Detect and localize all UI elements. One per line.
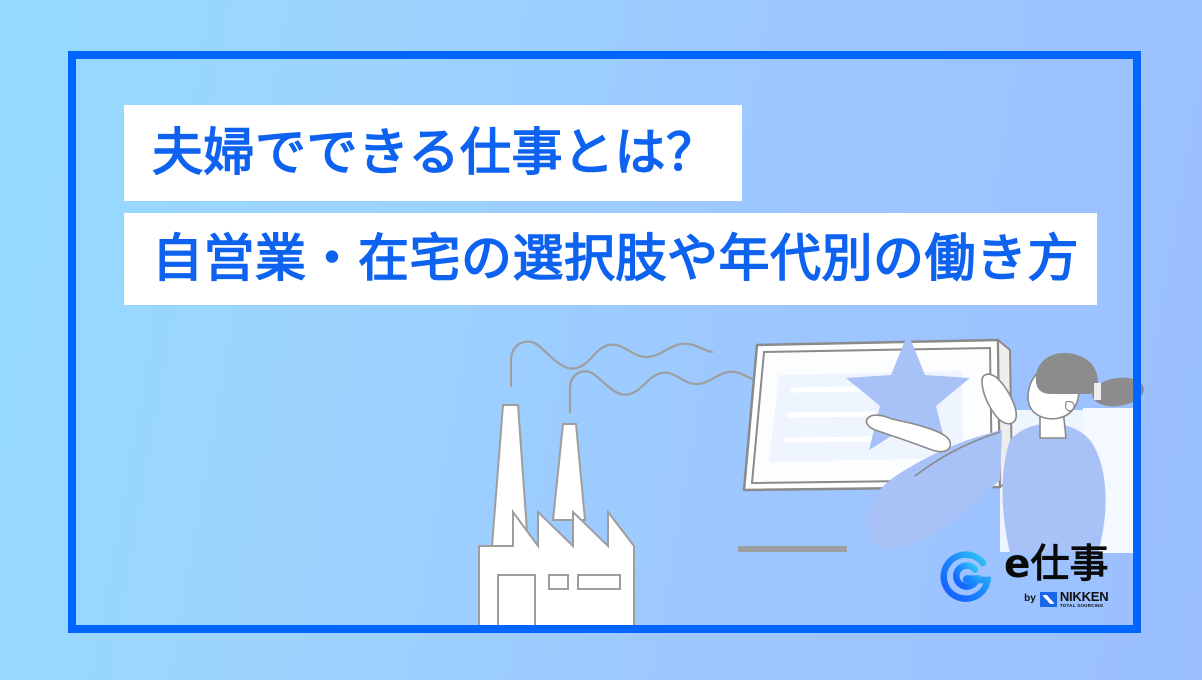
page-title-line1: 夫婦でできる仕事とは？ [152,128,717,179]
nikken-mark-icon [1040,592,1057,607]
smoke-line-1 [511,342,712,386]
factory-chimney-right [553,424,585,520]
star-icon [846,333,970,450]
person-neck [1040,400,1066,438]
tablet-side-edge [998,340,1012,487]
person-ponytail [1090,375,1145,410]
tablet-text-line-3 [785,439,887,440]
nikken-text: NIKKEN TOTAL SOURCING [1060,590,1109,609]
logo-text-group: e仕事 by NIKKEN TOTAL SOURCING [1004,545,1108,609]
back-panel-2 [1083,408,1141,553]
brand-logo[interactable]: e仕事 by NIKKEN TOTAL SOURCING [938,545,1126,617]
factory-illustration [479,405,634,630]
person-face [1028,366,1079,419]
factory-body [479,512,634,630]
title-band-line2: 自営業・在宅の選択肢や年代別の働き方 [124,213,1097,305]
parent-brand-group: by NIKKEN TOTAL SOURCING [1024,590,1108,609]
tablet-outer-frame [744,340,1000,490]
by-label: by [1024,594,1036,604]
person-arm [866,430,1002,549]
article-thumbnail-banner: 夫婦でできる仕事とは？ 自営業・在宅の選択肢や年代別の働き方 e仕事 by [0,0,1202,680]
smoke-lines [511,342,756,412]
person-hair [1036,353,1098,394]
tablet-illustration [744,340,1012,490]
person-arm-shade [915,432,1000,476]
e-spiral-inner [956,566,977,587]
person-hand-upper [982,374,1016,424]
tablet-text-line-1 [793,389,862,390]
tablet-screen-content [769,371,963,462]
tablet-text-line-2 [789,414,874,415]
factory-window-wide [578,575,620,589]
page-title-line2: 自営業・在宅の選択肢や年代別の働き方 [152,234,1079,285]
parent-brand-tagline: TOTAL SOURCING [1060,604,1109,609]
person-hair-tie [1094,383,1101,400]
person-illustration [866,353,1146,553]
parent-brand-name: NIKKEN [1060,590,1109,603]
back-panel [1000,410,1140,552]
smoke-line-2 [570,371,756,412]
person-hand-lower [866,415,950,451]
title-band-line1: 夫婦でできる仕事とは？ [124,105,742,201]
factory-window-small [549,575,568,589]
person-torso [1003,424,1106,554]
factory-chimney-left [492,405,528,546]
factory-door [498,575,535,630]
desk-edge-line [738,546,847,552]
tablet-text-lines [785,389,887,440]
person-ear [1066,401,1074,410]
tablet-screen [752,348,992,483]
e-spiral-mark-icon [938,547,994,603]
logo-wordmark: e仕事 [1004,545,1108,584]
